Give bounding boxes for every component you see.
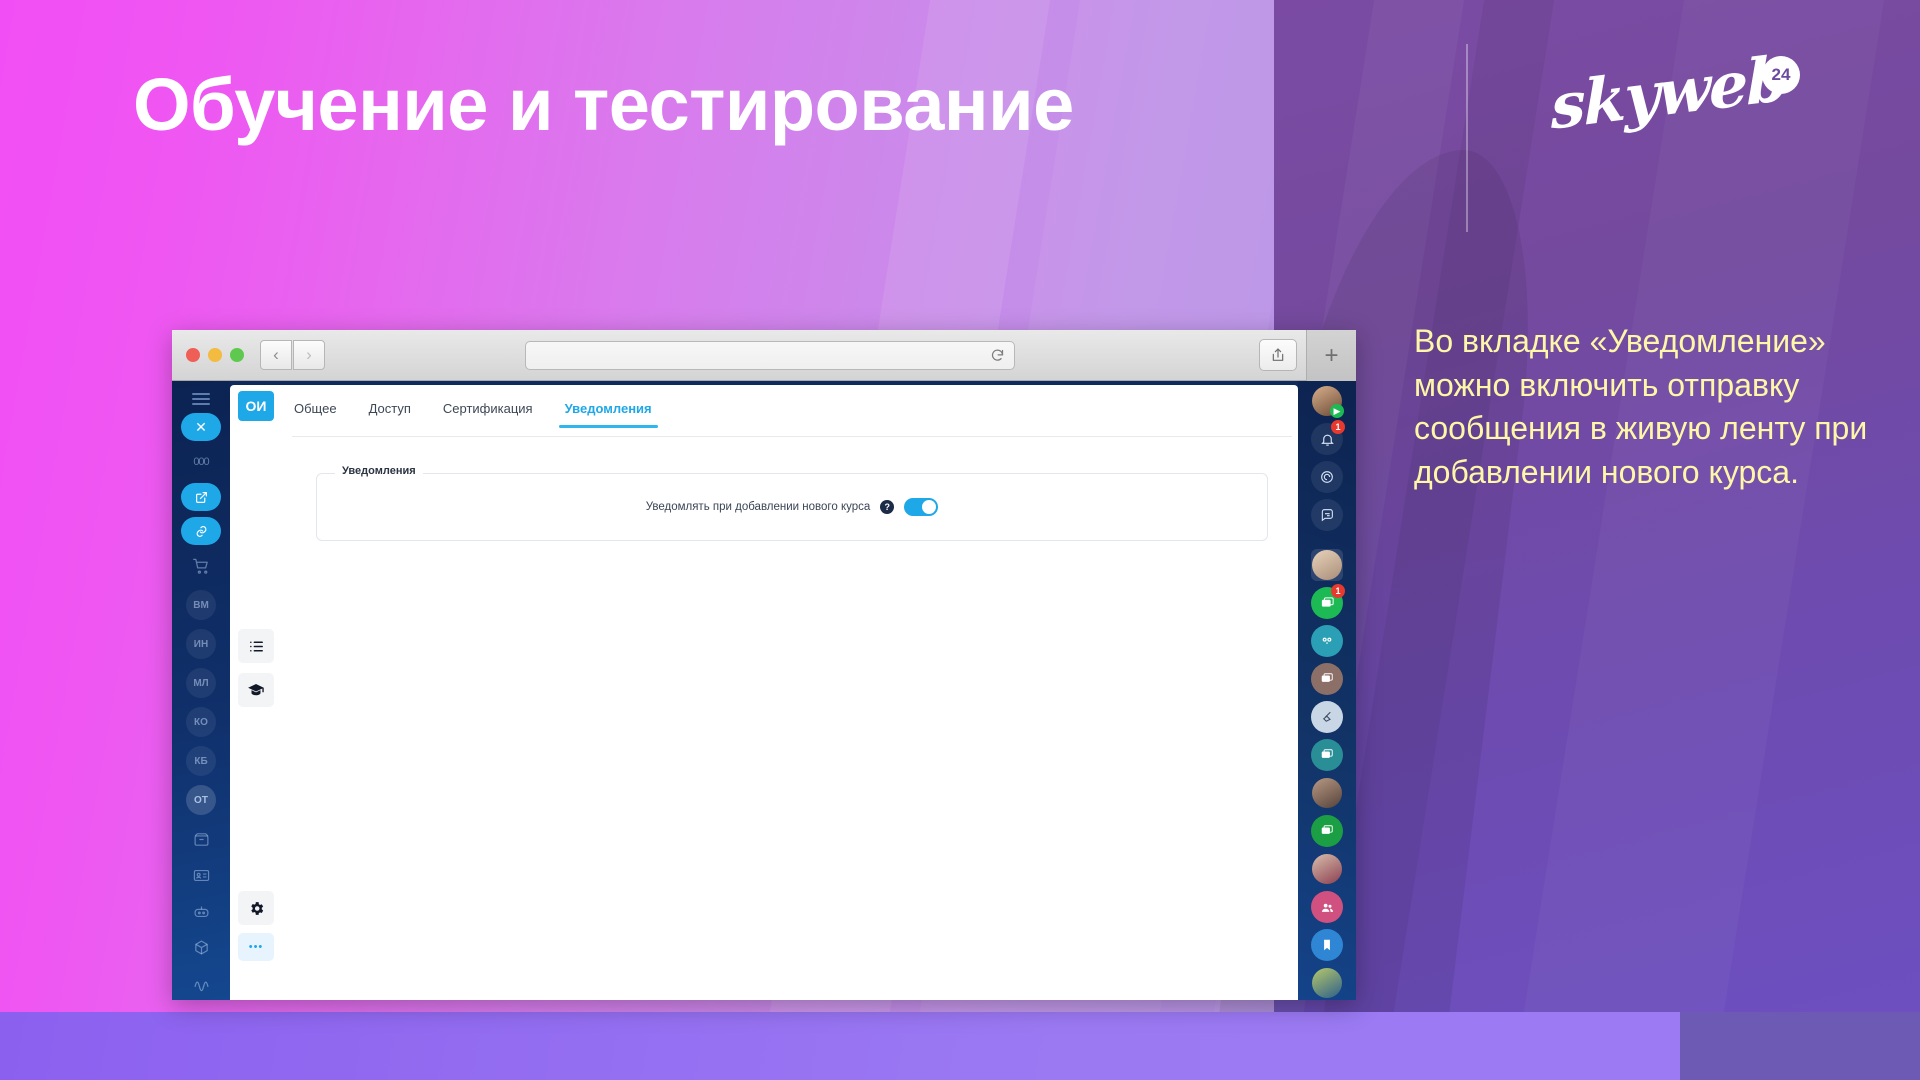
reload-icon[interactable] — [990, 348, 1005, 363]
page-viewport: ✕ 000 — [172, 381, 1356, 1000]
chat-icon[interactable] — [1311, 499, 1343, 531]
contact-card-icon[interactable] — [184, 860, 218, 890]
sidebar-link-button[interactable] — [181, 517, 221, 545]
sidebar-contact[interactable]: МЛ — [186, 668, 216, 698]
graduation-cap-icon[interactable] — [238, 673, 274, 707]
avatar-selected[interactable] — [1311, 549, 1343, 581]
hamburger-icon[interactable] — [192, 393, 210, 405]
left-sidebar: ✕ 000 — [172, 381, 230, 1000]
avatar — [1312, 854, 1342, 884]
external-link-icon — [195, 491, 208, 504]
bell-icon[interactable]: 1 — [1311, 423, 1343, 455]
zoom-window-button[interactable] — [230, 348, 244, 362]
back-button[interactable]: ‹ — [260, 340, 292, 370]
notification-setting-row: Уведомлять при добавлении нового курса ? — [317, 498, 1267, 516]
list-icon[interactable] — [238, 629, 274, 663]
contacts-badge: 1 — [1331, 584, 1345, 598]
logo-wordmark: skyweb — [1550, 47, 1787, 138]
card-brown-icon[interactable] — [1311, 663, 1343, 695]
page-title: Обучение и тестирование — [133, 62, 1074, 147]
background-bottom-right — [1680, 1012, 1920, 1080]
tab-dostup[interactable]: Доступ — [367, 393, 413, 428]
fieldset-legend: Уведомления — [335, 465, 423, 477]
right-icon-rail: ▶ 1 1 — [1298, 381, 1356, 1000]
bell-badge: 1 — [1331, 420, 1345, 434]
notification-setting-label: Уведомлять при добавлении нового курса — [646, 501, 871, 513]
avatar-person[interactable] — [1311, 777, 1343, 809]
new-tab-button[interactable]: + — [1306, 330, 1356, 381]
close-window-button[interactable] — [186, 348, 200, 362]
sidebar-contact[interactable]: ВМ — [186, 590, 216, 620]
sidebar-external-link-button[interactable] — [181, 483, 221, 511]
card-green-icon[interactable] — [1311, 815, 1343, 847]
app-logo-initials[interactable]: ОИ — [238, 391, 274, 421]
background-bottom-band — [0, 1012, 1920, 1080]
toggle-knob — [922, 500, 936, 514]
avatar-person-3[interactable] — [1311, 967, 1343, 999]
share-button[interactable] — [1259, 339, 1297, 371]
tab-uvedomleniya[interactable]: Уведомления — [563, 393, 654, 428]
minimize-window-button[interactable] — [208, 348, 222, 362]
spiral-icon[interactable] — [1311, 461, 1343, 493]
video-badge: ▶ — [1330, 404, 1344, 418]
slide-root: Обучение и тестирование skyweb 24 Во вкл… — [0, 0, 1920, 1080]
robot-icon[interactable] — [184, 896, 218, 926]
avatar-person-2[interactable] — [1311, 853, 1343, 885]
link-icon — [195, 525, 208, 538]
sidebar-close-button[interactable]: ✕ — [181, 413, 221, 441]
sidebar-contact[interactable]: КО — [186, 707, 216, 737]
notification-toggle[interactable] — [904, 498, 938, 516]
brand-logo: skyweb 24 — [1550, 62, 1830, 162]
wave-icon[interactable] — [184, 968, 218, 998]
tab-bar: Общее Доступ Сертификация Уведомления — [292, 393, 1292, 437]
people-pink-icon[interactable] — [1311, 891, 1343, 923]
broom-icon[interactable] — [1311, 701, 1343, 733]
owl-icon[interactable] — [1311, 625, 1343, 657]
close-icon: ✕ — [195, 419, 207, 436]
nav-buttons: ‹ › — [260, 340, 325, 370]
avatar — [1312, 968, 1342, 998]
sidebar-contact[interactable]: КБ — [186, 746, 216, 776]
sidebar-contact-active[interactable]: ОТ — [186, 785, 216, 815]
gear-icon[interactable] — [238, 891, 274, 925]
avatar-video[interactable]: ▶ — [1311, 385, 1343, 417]
archive-icon[interactable] — [184, 824, 218, 854]
card-teal-icon[interactable] — [1311, 739, 1343, 771]
sidebar-contact[interactable]: ИН — [186, 629, 216, 659]
logo-divider — [1466, 44, 1468, 232]
digits-placeholder: 000 — [184, 447, 218, 477]
forward-button[interactable]: › — [293, 340, 325, 370]
address-bar[interactable] — [525, 341, 1015, 370]
avatar — [1312, 778, 1342, 808]
bottom-dots-indicator[interactable]: ••• — [238, 933, 274, 961]
box-icon[interactable] — [184, 932, 218, 962]
share-icon — [1270, 347, 1286, 363]
contacts-green-icon[interactable]: 1 — [1311, 587, 1343, 619]
bookmark-icon[interactable] — [1311, 929, 1343, 961]
tab-content: Уведомления Уведомлять при добавлении но… — [292, 449, 1292, 1000]
tab-obshee[interactable]: Общее — [292, 393, 339, 428]
cart-icon[interactable] — [184, 551, 218, 581]
avatar — [1312, 550, 1342, 580]
traffic-lights — [186, 348, 244, 362]
help-icon[interactable]: ? — [880, 500, 894, 514]
slide-caption: Во вкладке «Уведомление» можно включить … — [1414, 320, 1892, 494]
browser-window: ‹ › + — [172, 330, 1356, 1000]
notifications-fieldset: Уведомления Уведомлять при добавлении но… — [316, 473, 1268, 541]
app-panel: ОИ — [230, 385, 1298, 1000]
tab-sertifikaciya[interactable]: Сертификация — [441, 393, 535, 428]
app-tool-strip — [238, 629, 274, 707]
logo-badge: 24 — [1762, 56, 1800, 94]
browser-chrome: ‹ › + — [172, 330, 1356, 381]
